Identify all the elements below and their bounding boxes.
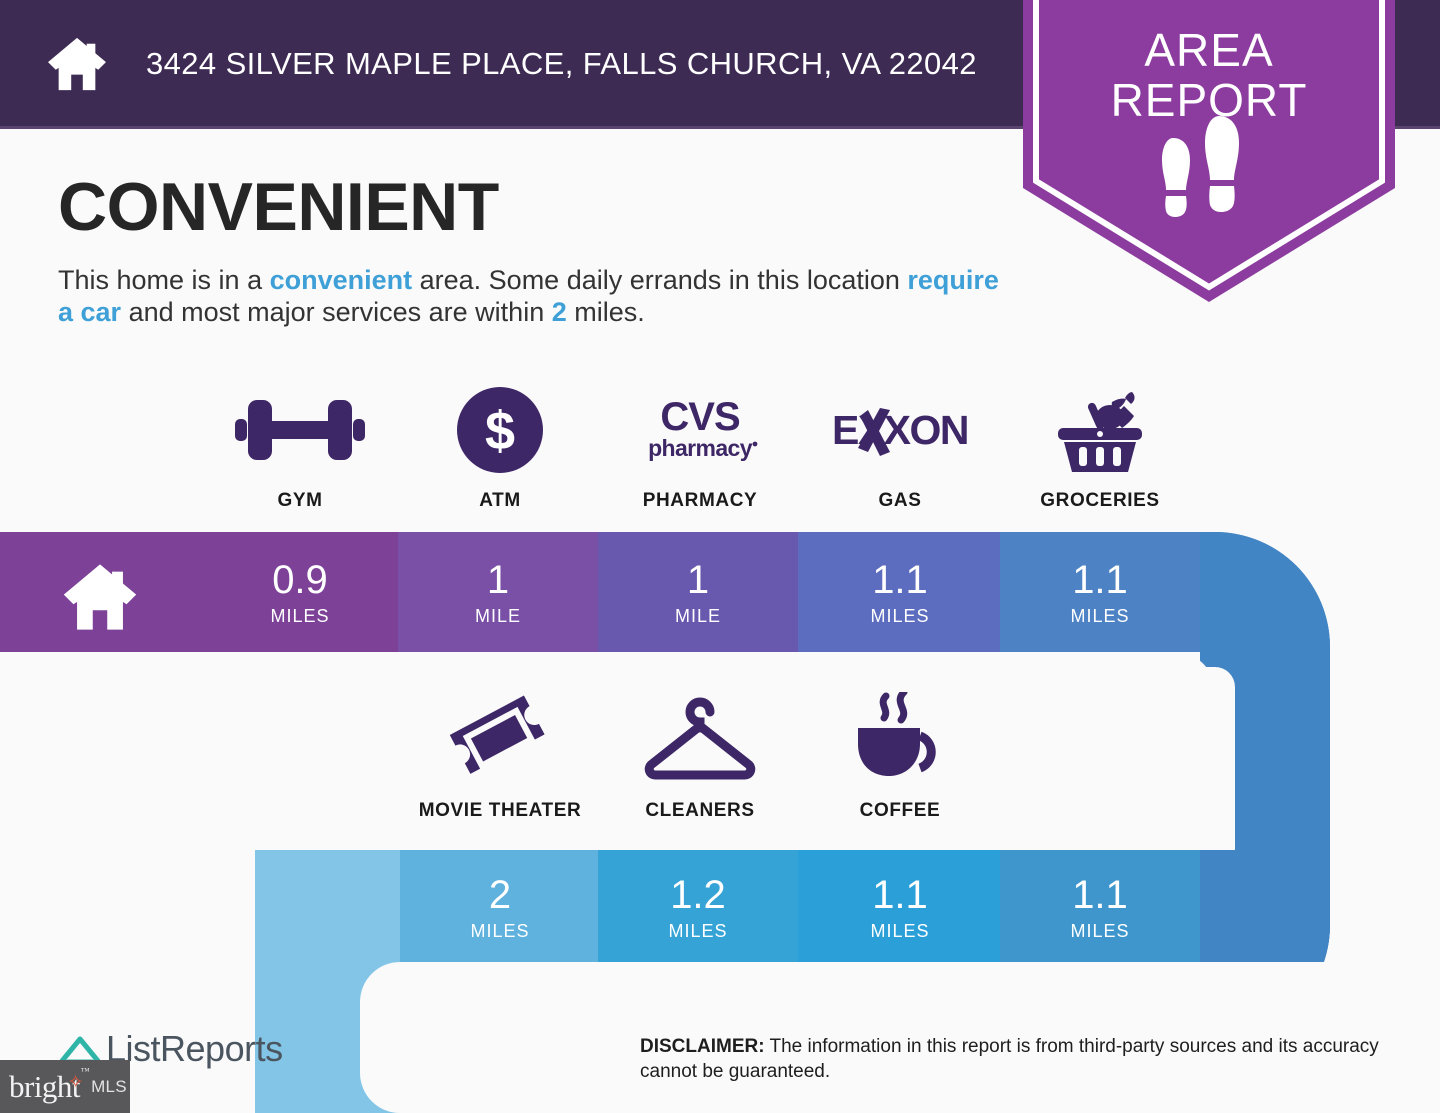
amenity-label: GAS: [879, 490, 922, 512]
dumbbell-icon: [235, 382, 365, 478]
svg-text:EXXON: EXXON: [832, 407, 968, 453]
amenity-label: PHARMACY: [643, 490, 758, 512]
lede-text-1: This home is in a: [58, 265, 270, 295]
disclaimer: DISCLAIMER: The information in this repo…: [640, 1034, 1385, 1084]
mls-bright-wordmark: bright ✧ ™: [9, 1069, 80, 1105]
home-icon: [46, 36, 108, 92]
cvs-pharmacy-icon: CVS pharmacy: [636, 382, 764, 478]
lede-text-2: area. Some daily errands in this locatio…: [412, 265, 907, 295]
grocery-basket-icon: [1052, 382, 1148, 478]
amenity-label: ATM: [479, 490, 521, 512]
distance-value: 0.9: [200, 560, 400, 600]
lede-text-4: miles.: [567, 297, 645, 327]
lede-highlight-3: 2: [552, 297, 567, 327]
distance-value: 1.1: [1000, 560, 1200, 600]
badge-line2: REPORT: [1111, 74, 1308, 126]
svg-text:$: $: [485, 401, 515, 461]
lede-text-3: and most major services are within: [121, 297, 552, 327]
amenity-gym: GYM: [200, 382, 400, 512]
mls-tm-mark: ™: [81, 1066, 89, 1076]
distance-value: 1.1: [800, 875, 1000, 915]
amenity-gas: EXXON GAS: [800, 382, 1000, 512]
distance-unit: MILES: [800, 921, 1000, 942]
svg-text:pharmacy: pharmacy: [648, 435, 753, 461]
bright-mls-watermark: bright ✧ ™ MLS: [0, 1060, 130, 1113]
mls-suffix: MLS: [91, 1077, 127, 1097]
amenity-label: GYM: [277, 490, 322, 512]
distance-unit: MILES: [598, 921, 798, 942]
area-report-badge: AREA REPORT: [1023, 0, 1395, 302]
distance-unit: MILES: [400, 921, 600, 942]
distance-unit: MILE: [398, 606, 598, 627]
listreports-wordmark: ListReports: [106, 1028, 283, 1070]
distance-unit: MILE: [598, 606, 798, 627]
amenity-icon-row-1: GYM $ ATM CVS pharmacy PHARMACY EXXON: [200, 382, 1200, 512]
badge-line1: AREA: [1144, 24, 1273, 76]
page-title: CONVENIENT: [58, 173, 499, 241]
amenity-groceries: GROCERIES: [1000, 382, 1200, 512]
disclaimer-label: DISCLAIMER:: [640, 1036, 765, 1057]
amenity-label: GROCERIES: [1040, 490, 1159, 512]
distance-value: 1.2: [598, 875, 798, 915]
track-inner-notch: [1000, 652, 1215, 850]
distance-unit: MILES: [1000, 606, 1200, 627]
distance-value: 2: [400, 875, 600, 915]
distance-track: 0.9 MILES 1 MILE 1 MILE 1.1 MILES 1.1 MI…: [0, 520, 1440, 1113]
page-description: This home is in a convenient area. Some …: [58, 264, 1003, 329]
exxon-icon: EXXON: [830, 382, 970, 478]
amenity-pharmacy: CVS pharmacy PHARMACY: [600, 382, 800, 512]
distance-value: 1.1: [800, 560, 1000, 600]
distance-unit: MILES: [200, 606, 400, 627]
svg-text:CVS: CVS: [660, 395, 740, 439]
property-address: 3424 SILVER MAPLE PLACE, FALLS CHURCH, V…: [146, 46, 977, 82]
distance-unit: MILES: [1000, 921, 1200, 942]
lede-highlight-1: convenient: [270, 265, 413, 295]
distance-unit: MILES: [800, 606, 1000, 627]
amenity-atm: $ ATM: [400, 382, 600, 512]
distance-value: 1.1: [1000, 875, 1200, 915]
distance-value: 1: [598, 560, 798, 600]
distance-value: 1: [398, 560, 598, 600]
dollar-circle-icon: $: [457, 382, 543, 478]
home-marker-icon: [61, 562, 139, 632]
